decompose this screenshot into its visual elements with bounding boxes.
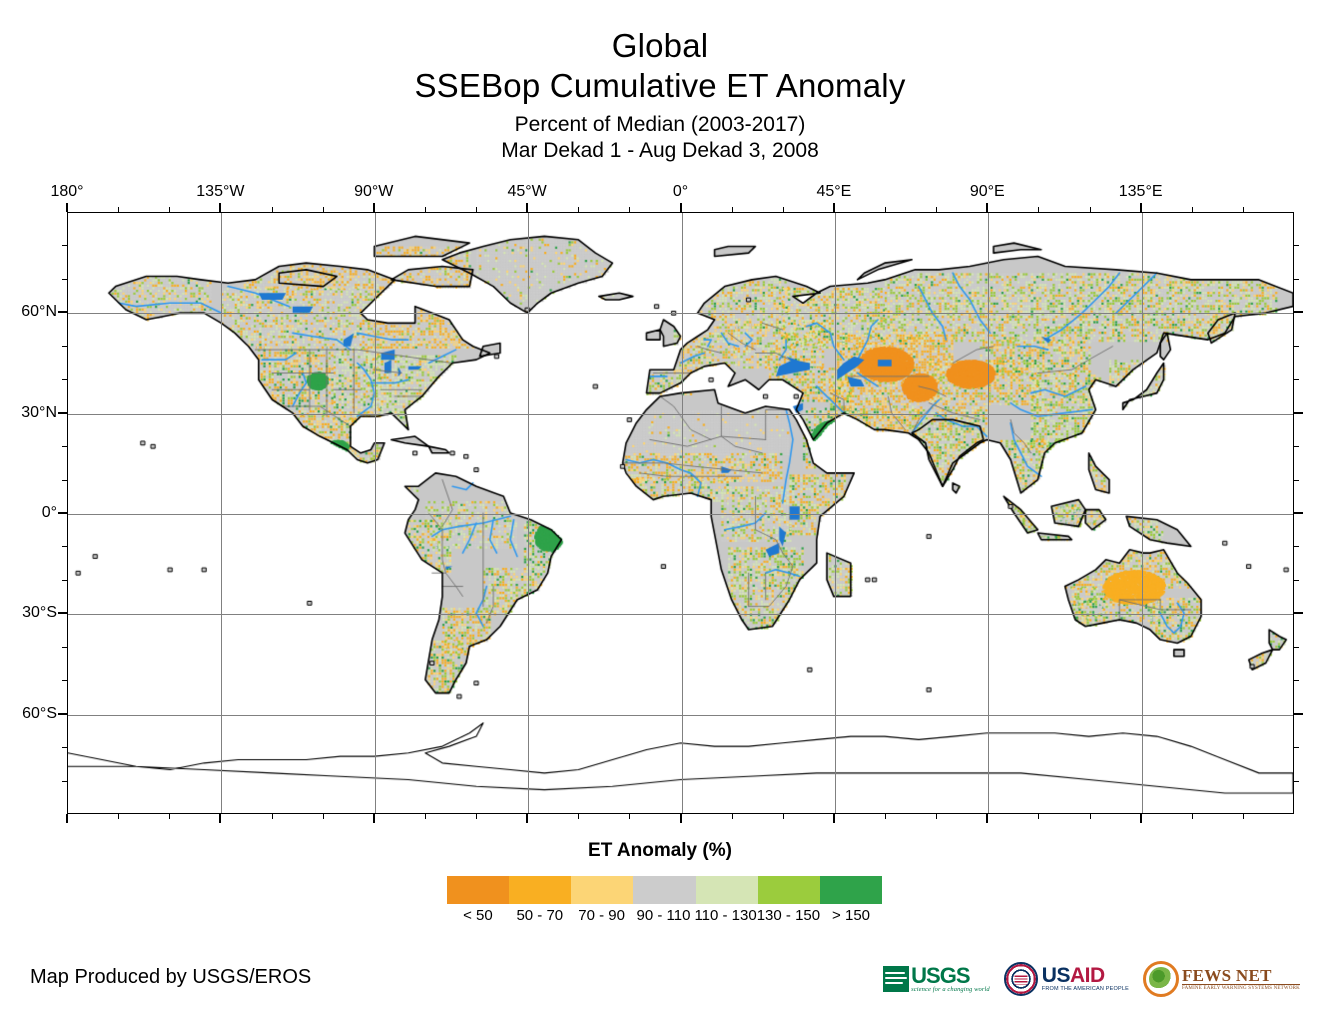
map-frame[interactable] bbox=[67, 212, 1294, 814]
map-raster bbox=[68, 213, 1293, 813]
lon-label: 45°W bbox=[507, 184, 546, 200]
graticule-parallel bbox=[68, 514, 1293, 515]
lon-tick-minor bbox=[272, 814, 273, 819]
fews-logo: FEWS NET FAMINE EARLY WARNING SYSTEMS NE… bbox=[1143, 962, 1300, 996]
lat-tick-minor bbox=[62, 647, 67, 648]
usgs-logo: USGS science for a changing world bbox=[883, 962, 990, 996]
lat-tick-minor bbox=[1294, 480, 1299, 481]
lon-label: 135°E bbox=[1119, 184, 1163, 200]
lat-tick-major bbox=[58, 412, 67, 414]
lon-tick-minor bbox=[783, 207, 784, 212]
lat-tick-minor bbox=[1294, 279, 1299, 280]
lat-label: 0° bbox=[0, 505, 57, 521]
lon-label: 0° bbox=[673, 184, 688, 200]
lat-tick-minor bbox=[1294, 379, 1299, 380]
graticule-meridian bbox=[835, 213, 836, 813]
lon-label: 180° bbox=[50, 184, 83, 200]
lon-tick-major bbox=[373, 814, 375, 823]
legend-label-5: 130 - 150 bbox=[757, 906, 820, 926]
lon-tick-major bbox=[833, 203, 835, 212]
lon-tick-major bbox=[986, 814, 988, 823]
lat-tick-major bbox=[1294, 612, 1303, 614]
lon-tick-minor bbox=[578, 207, 579, 212]
graticule-parallel bbox=[68, 715, 1293, 716]
lon-tick-minor bbox=[1038, 207, 1039, 212]
lat-tick-major bbox=[58, 311, 67, 313]
lat-tick-minor bbox=[1294, 647, 1299, 648]
lon-tick-major bbox=[1140, 814, 1142, 823]
lon-tick-minor bbox=[272, 207, 273, 212]
title-block: Global SSEBop Cumulative ET Anomaly Perc… bbox=[0, 0, 1320, 164]
legend-swatch-3 bbox=[633, 876, 695, 904]
lat-tick-major bbox=[1294, 412, 1303, 414]
lon-tick-minor bbox=[323, 814, 324, 819]
lat-label: 60°S bbox=[0, 706, 57, 722]
fews-wordmark: FEWS NET bbox=[1182, 967, 1300, 985]
lat-tick-major bbox=[1294, 311, 1303, 313]
lat-label: 60°N bbox=[0, 304, 57, 320]
lon-tick-major bbox=[526, 814, 528, 823]
graticule-meridian bbox=[988, 213, 989, 813]
lat-tick-minor bbox=[62, 480, 67, 481]
lat-tick-major bbox=[1294, 713, 1303, 715]
legend-swatch-5 bbox=[758, 876, 820, 904]
lon-tick-minor bbox=[425, 207, 426, 212]
usgs-wordmark: USGS bbox=[911, 965, 990, 986]
lon-tick-minor bbox=[885, 207, 886, 212]
lon-tick-minor bbox=[1243, 207, 1244, 212]
legend-label-4: 110 - 130 bbox=[694, 906, 756, 926]
lon-tick-minor bbox=[936, 207, 937, 212]
lat-tick-minor bbox=[1294, 546, 1299, 547]
lat-tick-minor bbox=[1294, 781, 1299, 782]
lat-tick-minor bbox=[62, 580, 67, 581]
lon-label: 90°E bbox=[970, 184, 1005, 200]
legend: ET Anomaly (%) < 5050 - 7070 - 9090 - 11… bbox=[0, 840, 1320, 862]
lon-tick-major bbox=[680, 814, 682, 823]
legend-label-1: 50 - 70 bbox=[509, 906, 571, 926]
legend-labels: < 5050 - 7070 - 9090 - 110110 - 130130 -… bbox=[447, 906, 882, 926]
lat-tick-minor bbox=[62, 279, 67, 280]
lon-tick-minor bbox=[629, 814, 630, 819]
graticule-meridian bbox=[528, 213, 529, 813]
usaid-word-aid: AID bbox=[1070, 964, 1105, 987]
lon-tick-minor bbox=[118, 814, 119, 819]
legend-swatch-4 bbox=[696, 876, 758, 904]
lat-tick-minor bbox=[62, 446, 67, 447]
lon-tick-minor bbox=[885, 814, 886, 819]
lon-tick-major bbox=[986, 203, 988, 212]
subtitle-dates: Mar Dekad 1 - Aug Dekad 3, 2008 bbox=[0, 138, 1320, 164]
lon-tick-minor bbox=[936, 814, 937, 819]
lat-tick-minor bbox=[62, 781, 67, 782]
credit-text: Map Produced by USGS/EROS bbox=[30, 965, 311, 989]
lon-tick-major bbox=[833, 814, 835, 823]
usaid-logo: USAID FROM THE AMERICAN PEOPLE bbox=[1004, 962, 1129, 996]
lon-tick-minor bbox=[578, 814, 579, 819]
lat-tick-minor bbox=[62, 346, 67, 347]
lon-tick-minor bbox=[732, 207, 733, 212]
graticule-meridian bbox=[1142, 213, 1143, 813]
legend-title: ET Anomaly (%) bbox=[0, 840, 1320, 862]
lon-tick-major bbox=[219, 814, 221, 823]
lon-tick-minor bbox=[476, 207, 477, 212]
lon-tick-major bbox=[373, 203, 375, 212]
usaid-seal-icon bbox=[1004, 962, 1038, 996]
legend-swatch-0 bbox=[447, 876, 509, 904]
lon-tick-major bbox=[680, 203, 682, 212]
graticule-parallel bbox=[68, 313, 1293, 314]
legend-label-2: 70 - 90 bbox=[571, 906, 633, 926]
lon-tick-major bbox=[66, 203, 68, 212]
legend-label-0: < 50 bbox=[447, 906, 509, 926]
logo-strip: USGS science for a changing world USAID … bbox=[883, 957, 1300, 1001]
usgs-wave-icon bbox=[883, 966, 909, 992]
lat-tick-minor bbox=[62, 245, 67, 246]
fews-globe-icon bbox=[1143, 961, 1179, 997]
lat-tick-minor bbox=[1294, 446, 1299, 447]
subtitle-period: Percent of Median (2003-2017) bbox=[0, 112, 1320, 138]
graticule-meridian bbox=[221, 213, 222, 813]
fews-tagline: FAMINE EARLY WARNING SYSTEMS NETWORK bbox=[1182, 985, 1300, 992]
lon-tick-minor bbox=[629, 207, 630, 212]
usaid-tagline: FROM THE AMERICAN PEOPLE bbox=[1042, 986, 1129, 993]
lat-tick-major bbox=[58, 512, 67, 514]
lon-tick-minor bbox=[1192, 207, 1193, 212]
legend-swatch-6 bbox=[820, 876, 882, 904]
lon-tick-minor bbox=[425, 814, 426, 819]
legend-label-3: 90 - 110 bbox=[633, 906, 695, 926]
lon-tick-major bbox=[526, 203, 528, 212]
lon-tick-minor bbox=[476, 814, 477, 819]
page-subtitle: SSEBop Cumulative ET Anomaly bbox=[0, 66, 1320, 106]
lon-tick-minor bbox=[1038, 814, 1039, 819]
lat-tick-minor bbox=[1294, 346, 1299, 347]
lon-tick-minor bbox=[1090, 207, 1091, 212]
graticule-meridian bbox=[682, 213, 683, 813]
lat-tick-minor bbox=[1294, 680, 1299, 681]
lat-tick-minor bbox=[1294, 580, 1299, 581]
lon-tick-minor bbox=[783, 814, 784, 819]
usaid-word-us: US bbox=[1042, 964, 1070, 987]
lat-tick-minor bbox=[62, 680, 67, 681]
lat-tick-major bbox=[58, 713, 67, 715]
lat-tick-minor bbox=[62, 379, 67, 380]
lon-tick-minor bbox=[1090, 814, 1091, 819]
lon-tick-minor bbox=[1243, 814, 1244, 819]
lon-tick-major bbox=[219, 203, 221, 212]
usgs-tagline: science for a changing world bbox=[911, 986, 990, 994]
lon-tick-minor bbox=[323, 207, 324, 212]
legend-swatch-1 bbox=[509, 876, 571, 904]
lat-tick-minor bbox=[62, 546, 67, 547]
graticule-parallel bbox=[68, 614, 1293, 615]
lat-tick-minor bbox=[1294, 747, 1299, 748]
lat-tick-minor bbox=[1294, 245, 1299, 246]
lat-label: 30°S bbox=[0, 605, 57, 621]
lon-tick-major bbox=[66, 814, 68, 823]
legend-color-bar bbox=[447, 876, 882, 904]
lon-tick-minor bbox=[732, 814, 733, 819]
lon-tick-minor bbox=[118, 207, 119, 212]
lat-tick-major bbox=[1294, 512, 1303, 514]
lon-tick-major bbox=[1140, 203, 1142, 212]
lon-tick-minor bbox=[1192, 814, 1193, 819]
legend-swatch-2 bbox=[571, 876, 633, 904]
usaid-wordmark: USAID bbox=[1042, 966, 1129, 986]
lat-tick-minor bbox=[62, 747, 67, 748]
lon-label: 90°W bbox=[354, 184, 393, 200]
map-area[interactable] bbox=[67, 212, 1294, 814]
legend-label-6: > 150 bbox=[820, 906, 882, 926]
lon-label: 135°W bbox=[196, 184, 244, 200]
lon-tick-minor bbox=[169, 207, 170, 212]
lon-label: 45°E bbox=[816, 184, 851, 200]
lat-label: 30°N bbox=[0, 405, 57, 421]
graticule-parallel bbox=[68, 414, 1293, 415]
lat-tick-major bbox=[58, 612, 67, 614]
lon-tick-minor bbox=[169, 814, 170, 819]
graticule-meridian bbox=[375, 213, 376, 813]
page-title: Global bbox=[0, 26, 1320, 66]
